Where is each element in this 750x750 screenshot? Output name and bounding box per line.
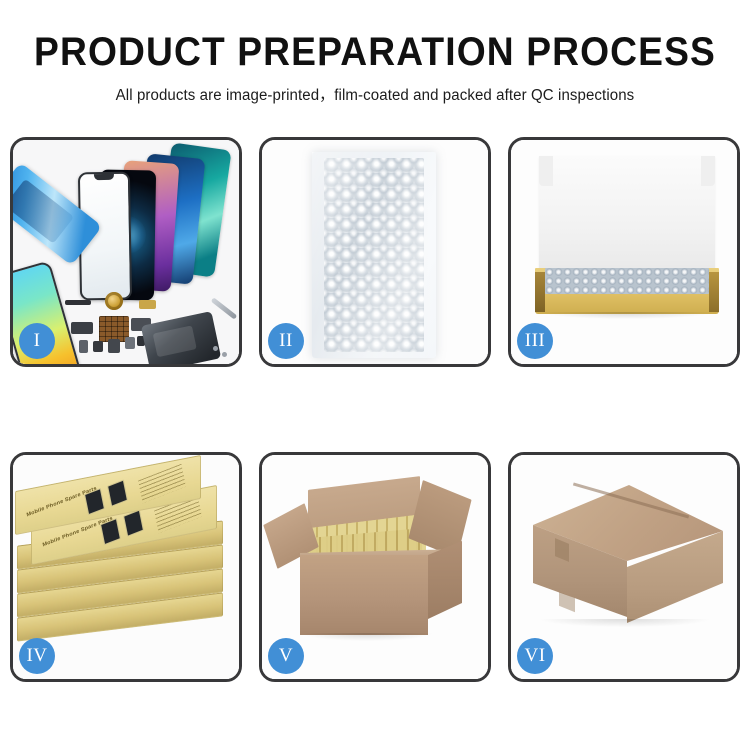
step-panel-3[interactable]: III <box>508 137 740 367</box>
step-badge-2: II <box>268 323 304 359</box>
copper-coil-part <box>105 292 123 310</box>
step-badge-5: V <box>268 638 304 674</box>
page-subtitle: All products are image-printed，film-coat… <box>11 83 739 105</box>
step-panel-4[interactable]: Mobile Phone Spare Parts Mobile Phone Sp… <box>10 452 242 682</box>
bubble-wrap-pouch <box>312 152 436 358</box>
header: PRODUCT PREPARATION PROCESS All products… <box>0 30 750 105</box>
step-badge-3: III <box>517 323 553 359</box>
small-component-d <box>125 337 135 349</box>
box-swatch-1a <box>84 488 105 515</box>
step-panel-1[interactable]: I <box>10 137 242 367</box>
step-panel-6[interactable]: VI <box>508 452 740 682</box>
box-swatch-2b <box>123 510 144 537</box>
drop-shadow <box>302 633 432 641</box>
flex-cable-part-a <box>71 322 93 334</box>
speaker-bar-part <box>65 300 91 305</box>
lid-flap-left <box>539 156 553 186</box>
white-box-lid <box>539 156 715 274</box>
product-preparation-infographic: PRODUCT PREPARATION PROCESS All products… <box>0 0 750 750</box>
box-spec-lines-1 <box>138 464 186 503</box>
screw-part-a <box>213 346 218 351</box>
drop-shadow <box>541 312 713 319</box>
flex-cable-part-c <box>139 300 156 309</box>
small-component-a <box>79 340 88 353</box>
drop-shadow <box>541 619 709 627</box>
small-component-c <box>108 339 120 353</box>
small-component-b <box>93 341 103 352</box>
carton-front-face <box>300 555 428 635</box>
plastic-sheen <box>312 152 436 358</box>
page-title: PRODUCT PREPARATION PROCESS <box>26 30 724 74</box>
step-badge-4: IV <box>19 638 55 674</box>
step-panel-2[interactable]: II <box>259 137 491 367</box>
step-badge-6: VI <box>517 638 553 674</box>
process-step-grid: I II <box>10 137 740 682</box>
tray-edge-left <box>535 272 545 312</box>
box-swatch-1b <box>107 480 128 507</box>
bubble-wrapped-contents <box>545 268 709 294</box>
step-badge-1: I <box>19 323 55 359</box>
screw-part-b <box>222 352 227 357</box>
tray-edge-right <box>709 272 719 312</box>
step-panel-5[interactable]: V <box>259 452 491 682</box>
lid-flap-right <box>701 156 715 186</box>
box-swatch-2a <box>100 518 121 545</box>
